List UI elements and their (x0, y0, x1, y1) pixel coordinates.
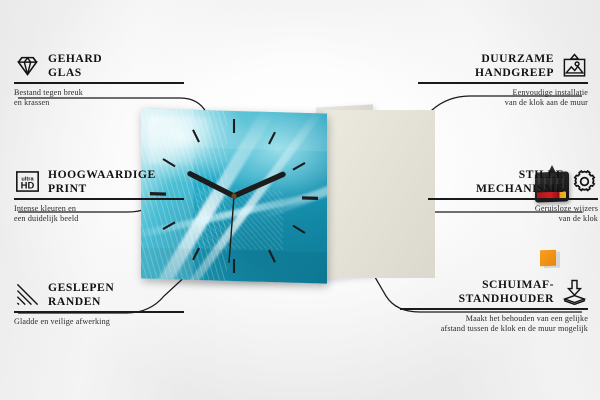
feature-divider (14, 311, 184, 313)
second-hand (229, 196, 234, 263)
feature-duurzame-handgreep: DUURZAME HANDGREEP Eenvoudige installati… (418, 52, 588, 108)
feature-hoogwaardige-print: ultra HD HOOGWAARDIGE PRINT Intense kleu… (14, 168, 184, 224)
feature-title: SCHUIMAF- STANDHOUDER (459, 278, 554, 305)
feature-divider (400, 308, 588, 310)
feature-header: DUURZAME HANDGREEP (418, 52, 588, 79)
feature-header: SCHUIMAF- STANDHOUDER (400, 278, 588, 305)
feature-stille-mechanisme: STILLE MECHANISME Geruisloze wijzers van… (428, 168, 598, 224)
ultra-hd-icon: ultra HD (14, 168, 41, 195)
feature-header: GEHARD GLAS (14, 52, 184, 79)
feature-subtitle: Intense kleuren en een duidelijk beeld (14, 204, 184, 224)
feature-subtitle: Gladde en veilige afwerking (14, 317, 184, 327)
feature-subtitle: Bestand tegen breuk en krassen (14, 88, 184, 108)
hour-hand (190, 174, 234, 196)
feature-gehard-glas: GEHARD GLAS Bestand tegen breuk en krass… (14, 52, 184, 108)
feature-divider (418, 82, 588, 84)
minute-hand (234, 173, 283, 197)
feature-divider (428, 198, 598, 200)
foam-spacer (540, 250, 556, 267)
feature-title: GESLEPEN RANDEN (48, 281, 114, 308)
feature-title: HOOGWAARDIGE PRINT (48, 168, 156, 195)
feature-title: DUURZAME HANDGREEP (475, 52, 554, 79)
feature-subtitle: Maakt het behouden van een gelijke afsta… (400, 314, 588, 334)
feature-title: STILLE MECHANISME (476, 168, 564, 195)
feature-subtitle: Eenvoudige installatie van de klok aan d… (430, 88, 588, 108)
feature-divider (14, 198, 184, 200)
feature-header: GESLEPEN RANDEN (14, 281, 184, 308)
diamond-icon (14, 52, 41, 79)
infographic-canvas: GEHARD GLAS Bestand tegen breuk en krass… (0, 0, 600, 400)
svg-text:HD: HD (21, 181, 35, 192)
clock-rear-face (323, 110, 435, 278)
feature-subtitle: Geruisloze wijzers van de klok (448, 204, 598, 224)
feature-header: ultra HD HOOGWAARDIGE PRINT (14, 168, 184, 195)
bevelled-edge-icon (14, 281, 41, 308)
arrow-down-spacer-icon (561, 278, 588, 305)
feature-schuimaf-standhouder: SCHUIMAF- STANDHOUDER Maakt het behouden… (400, 278, 588, 334)
feature-geslepen-randen: GESLEPEN RANDEN Gladde en veilige afwerk… (14, 281, 184, 327)
feature-header: STILLE MECHANISME (428, 168, 598, 195)
feature-title: GEHARD GLAS (48, 52, 102, 79)
gear-icon (571, 168, 598, 195)
feature-divider (14, 82, 184, 84)
picture-frame-hanger-icon (561, 52, 588, 79)
